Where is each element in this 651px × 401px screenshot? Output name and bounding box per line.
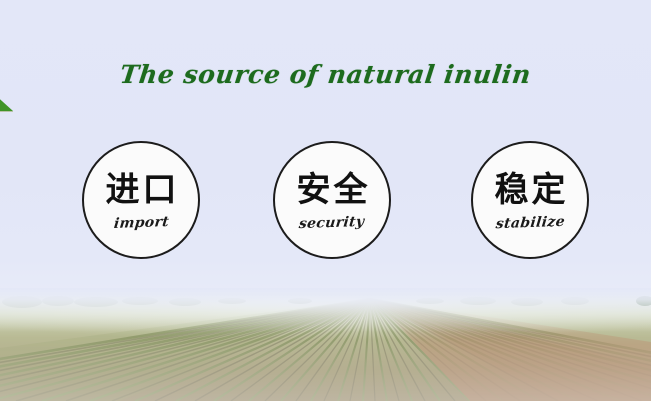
field-photo [0,296,651,401]
feature-badge-group: 进口 import 安全 security 稳定 stabilize [0,141,651,265]
badge-stabilize[interactable]: 稳定 stabilize [471,141,589,259]
badge-label-en: stabilize [495,214,566,230]
badge-label-cn: 进口 [106,173,180,207]
badge-import[interactable]: 进口 import [82,141,200,259]
badge-security[interactable]: 安全 security [273,141,391,259]
badge-label-en: import [113,215,170,231]
badge-label-cn: 安全 [297,173,371,207]
badge-label-en: security [299,214,366,230]
badge-label-cn: 稳定 [495,173,569,207]
page-title: The source of natural inulin [0,60,651,89]
promo-banner: The source of natural inulin 进口 import 安… [0,0,651,401]
